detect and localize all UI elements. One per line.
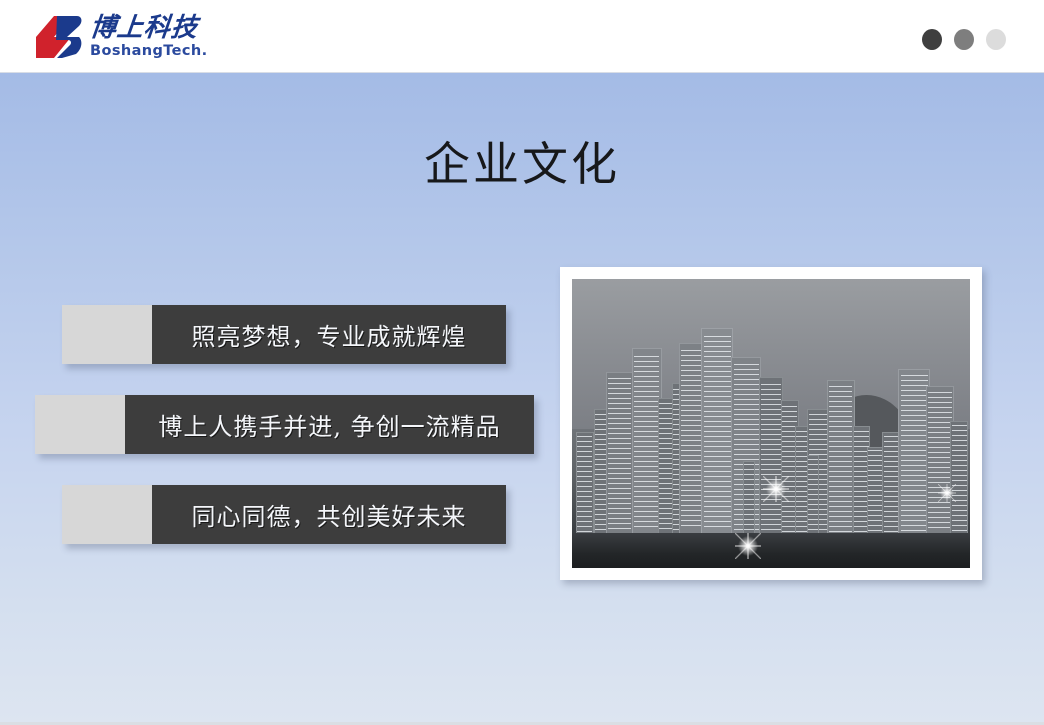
slogan-bar-body: 博上人携手并进, 争创一流精品	[125, 395, 534, 454]
dot-dark-icon[interactable]	[922, 29, 942, 50]
logo-english-name: BoshangTech.	[90, 44, 207, 59]
dot-light-icon[interactable]	[986, 29, 1006, 50]
photo-skyline	[572, 279, 970, 568]
slogan-bar-accent-block	[62, 305, 152, 364]
company-logo[interactable]: 博上科技 BoshangTech.	[34, 10, 207, 64]
dot-medium-icon[interactable]	[954, 29, 974, 50]
slogan-bar-body: 照亮梦想，专业成就辉煌	[152, 305, 506, 364]
city-skyline-night-photo	[572, 279, 970, 568]
photo-light-flare	[938, 484, 956, 502]
slide-body: 企业文化 照亮梦想，专业成就辉煌 博上人携手并进, 争创一流精品 同心同德，共创…	[0, 73, 1044, 725]
slogan-text: 照亮梦想，专业成就辉煌	[192, 317, 467, 352]
slogan-text: 同心同德，共创美好未来	[192, 497, 467, 532]
photo-frame	[560, 267, 982, 580]
slogan-text: 博上人携手并进, 争创一流精品	[158, 407, 500, 442]
slogan-bar: 同心同德，共创美好未来	[62, 485, 506, 544]
header-dot-indicators	[922, 29, 1006, 50]
slide-header: 博上科技 BoshangTech.	[0, 0, 1044, 73]
slogan-bar: 博上人携手并进, 争创一流精品	[35, 395, 534, 454]
logo-wordmark: 博上科技 BoshangTech.	[90, 15, 207, 59]
logo-chinese-name: 博上科技	[89, 15, 209, 41]
slogan-bar-body: 同心同德，共创美好未来	[152, 485, 506, 544]
slogan-bar-accent-block	[62, 485, 152, 544]
photo-light-flare	[735, 533, 761, 559]
slogan-bar: 照亮梦想，专业成就辉煌	[62, 305, 506, 364]
slogan-bar-list: 照亮梦想，专业成就辉煌 博上人携手并进, 争创一流精品 同心同德，共创美好未来	[0, 73, 560, 725]
photo-light-flare	[763, 476, 789, 502]
slogan-bar-accent-block	[35, 395, 125, 454]
presentation-slide: 博上科技 BoshangTech. 企业文化 照亮梦想，专业成就辉煌	[0, 0, 1044, 725]
photo-foreground	[572, 533, 970, 568]
boshang-logo-mark	[34, 14, 84, 60]
